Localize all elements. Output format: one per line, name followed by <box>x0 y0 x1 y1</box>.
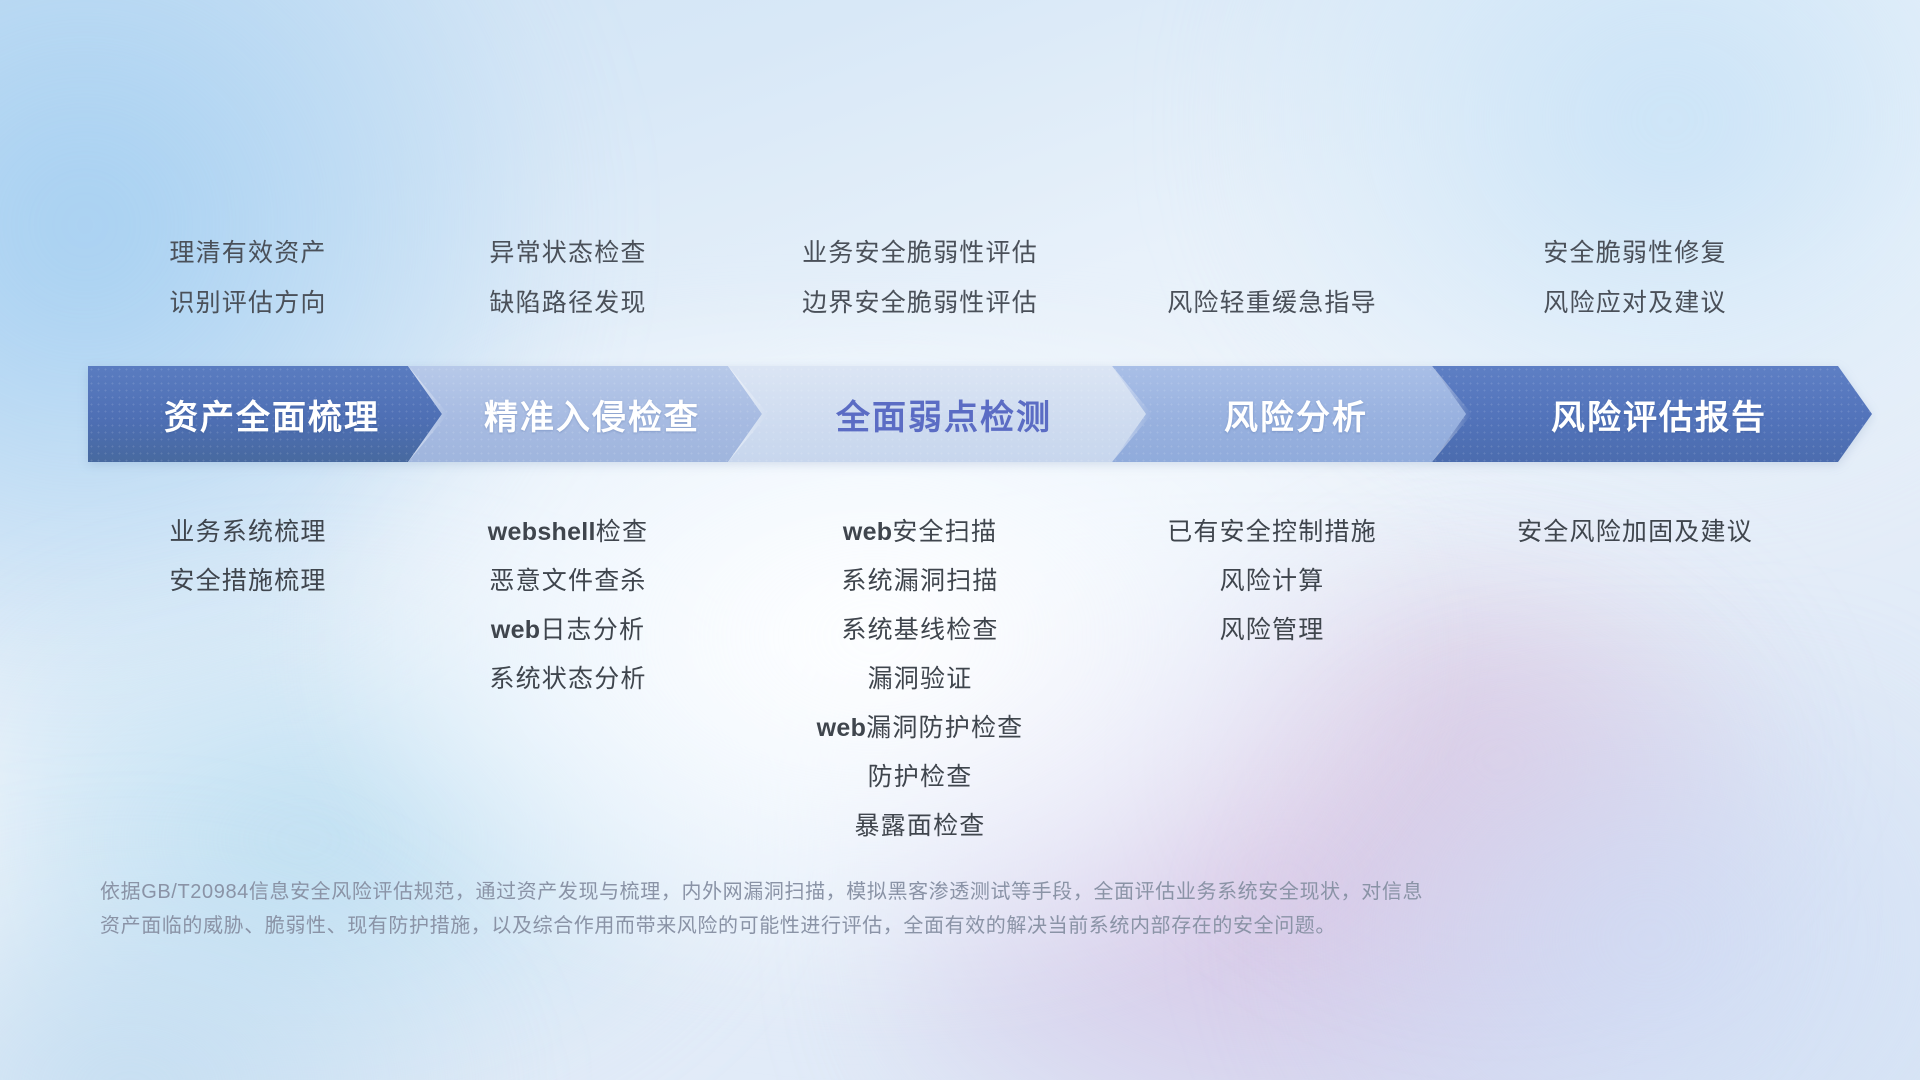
bottom-list-item: 安全风险加固及建议 <box>1432 508 1838 557</box>
bottom-list-item: 系统漏洞扫描 <box>728 557 1112 606</box>
chevron-stage-label: 全面弱点检测 <box>822 390 1052 439</box>
top-label: 安全脆弱性修复 <box>1432 228 1838 278</box>
top-label: 风险应对及建议 <box>1432 278 1838 328</box>
bottom-list-item-prefix: web <box>817 714 867 742</box>
top-label-column-4: 风险轻重缓急指导 <box>1112 228 1432 328</box>
top-label-column-2: 异常状态检查缺陷路径发现 <box>408 228 728 328</box>
top-label-row: 理清有效资产识别评估方向异常状态检查缺陷路径发现业务安全脆弱性评估边界安全脆弱性… <box>0 228 1920 328</box>
top-label-column-1: 理清有效资产识别评估方向 <box>88 228 408 328</box>
bottom-list-item: webshell检查 <box>408 508 728 557</box>
top-label: 理清有效资产 <box>88 228 408 278</box>
bottom-list-item-text: 检查 <box>596 518 648 546</box>
bottom-list-item-text: 安全扫描 <box>892 518 997 546</box>
bottom-list-item: 恶意文件查杀 <box>408 557 728 606</box>
top-label-column-5: 安全脆弱性修复风险应对及建议 <box>1432 228 1838 328</box>
bottom-list-column-1: 业务系统梳理安全措施梳理 <box>88 508 408 606</box>
footer-description: 依据GB/T20984信息安全风险评估规范，通过资产发现与梳理，内外网漏洞扫描，… <box>100 875 1660 943</box>
bottom-list-item: 业务系统梳理 <box>88 508 408 557</box>
bottom-list-item: web安全扫描 <box>728 508 1112 557</box>
footer-line-2: 资产面临的威胁、脆弱性、现有防护措施，以及综合作用而带来风险的可能性进行评估，全… <box>100 909 1660 943</box>
chevron-stage-5[interactable]: 风险评估报告 <box>1432 366 1872 462</box>
top-label-column-3: 业务安全脆弱性评估边界安全脆弱性评估 <box>728 228 1112 328</box>
bottom-list-item: 防护检查 <box>728 753 1112 802</box>
bottom-list-row: 业务系统梳理安全措施梳理webshell检查恶意文件查杀web日志分析系统状态分… <box>0 508 1920 851</box>
bottom-list-item-text: 日志分析 <box>540 616 645 644</box>
bottom-list-item: 系统基线检查 <box>728 606 1112 655</box>
bottom-list-item: 安全措施梳理 <box>88 557 408 606</box>
top-label: 边界安全脆弱性评估 <box>728 278 1112 328</box>
bottom-list-column-2: webshell检查恶意文件查杀web日志分析系统状态分析 <box>408 508 728 704</box>
bottom-list-item: 漏洞验证 <box>728 655 1112 704</box>
bottom-list-column-4: 已有安全控制措施风险计算风险管理 <box>1112 508 1432 655</box>
top-label: 风险轻重缓急指导 <box>1112 278 1432 328</box>
bottom-list-item: 风险计算 <box>1112 557 1432 606</box>
process-diagram: 理清有效资产识别评估方向异常状态检查缺陷路径发现业务安全脆弱性评估边界安全脆弱性… <box>0 0 1920 1080</box>
chevron-stage-1[interactable]: 资产全面梳理 <box>88 366 442 462</box>
chevron-stage-label: 资产全面梳理 <box>150 390 380 439</box>
bottom-list-item-prefix: webshell <box>488 518 596 546</box>
chevron-stage-label: 风险分析 <box>1210 390 1368 439</box>
top-label: 识别评估方向 <box>88 278 408 328</box>
bottom-list-item: 系统状态分析 <box>408 655 728 704</box>
chevron-stage-4[interactable]: 风险分析 <box>1112 366 1466 462</box>
footer-line-1: 依据GB/T20984信息安全风险评估规范，通过资产发现与梳理，内外网漏洞扫描，… <box>100 875 1660 909</box>
chevron-stage-label: 精准入侵检查 <box>470 390 700 439</box>
bottom-list-column-3: web安全扫描系统漏洞扫描系统基线检查漏洞验证web漏洞防护检查防护检查暴露面检… <box>728 508 1112 851</box>
bottom-list-item: 暴露面检查 <box>728 802 1112 851</box>
bottom-list-item-text: 漏洞防护检查 <box>866 714 1023 742</box>
bottom-list-column-5: 安全风险加固及建议 <box>1432 508 1838 557</box>
chevron-stage-banner: 资产全面梳理精准入侵检查全面弱点检测风险分析风险评估报告 <box>88 366 1838 462</box>
bottom-list-item-prefix: web <box>843 518 893 546</box>
bottom-list-item-prefix: web <box>491 616 541 644</box>
bottom-list-item: 风险管理 <box>1112 606 1432 655</box>
bottom-list-item: 已有安全控制措施 <box>1112 508 1432 557</box>
chevron-stage-3[interactable]: 全面弱点检测 <box>728 366 1146 462</box>
top-label: 异常状态检查 <box>408 228 728 278</box>
bottom-list-item: web日志分析 <box>408 606 728 655</box>
bottom-list-item: web漏洞防护检查 <box>728 704 1112 753</box>
top-label: 业务安全脆弱性评估 <box>728 228 1112 278</box>
chevron-stage-2[interactable]: 精准入侵检查 <box>408 366 762 462</box>
chevron-stage-label: 风险评估报告 <box>1537 390 1767 439</box>
top-label: 缺陷路径发现 <box>408 278 728 328</box>
